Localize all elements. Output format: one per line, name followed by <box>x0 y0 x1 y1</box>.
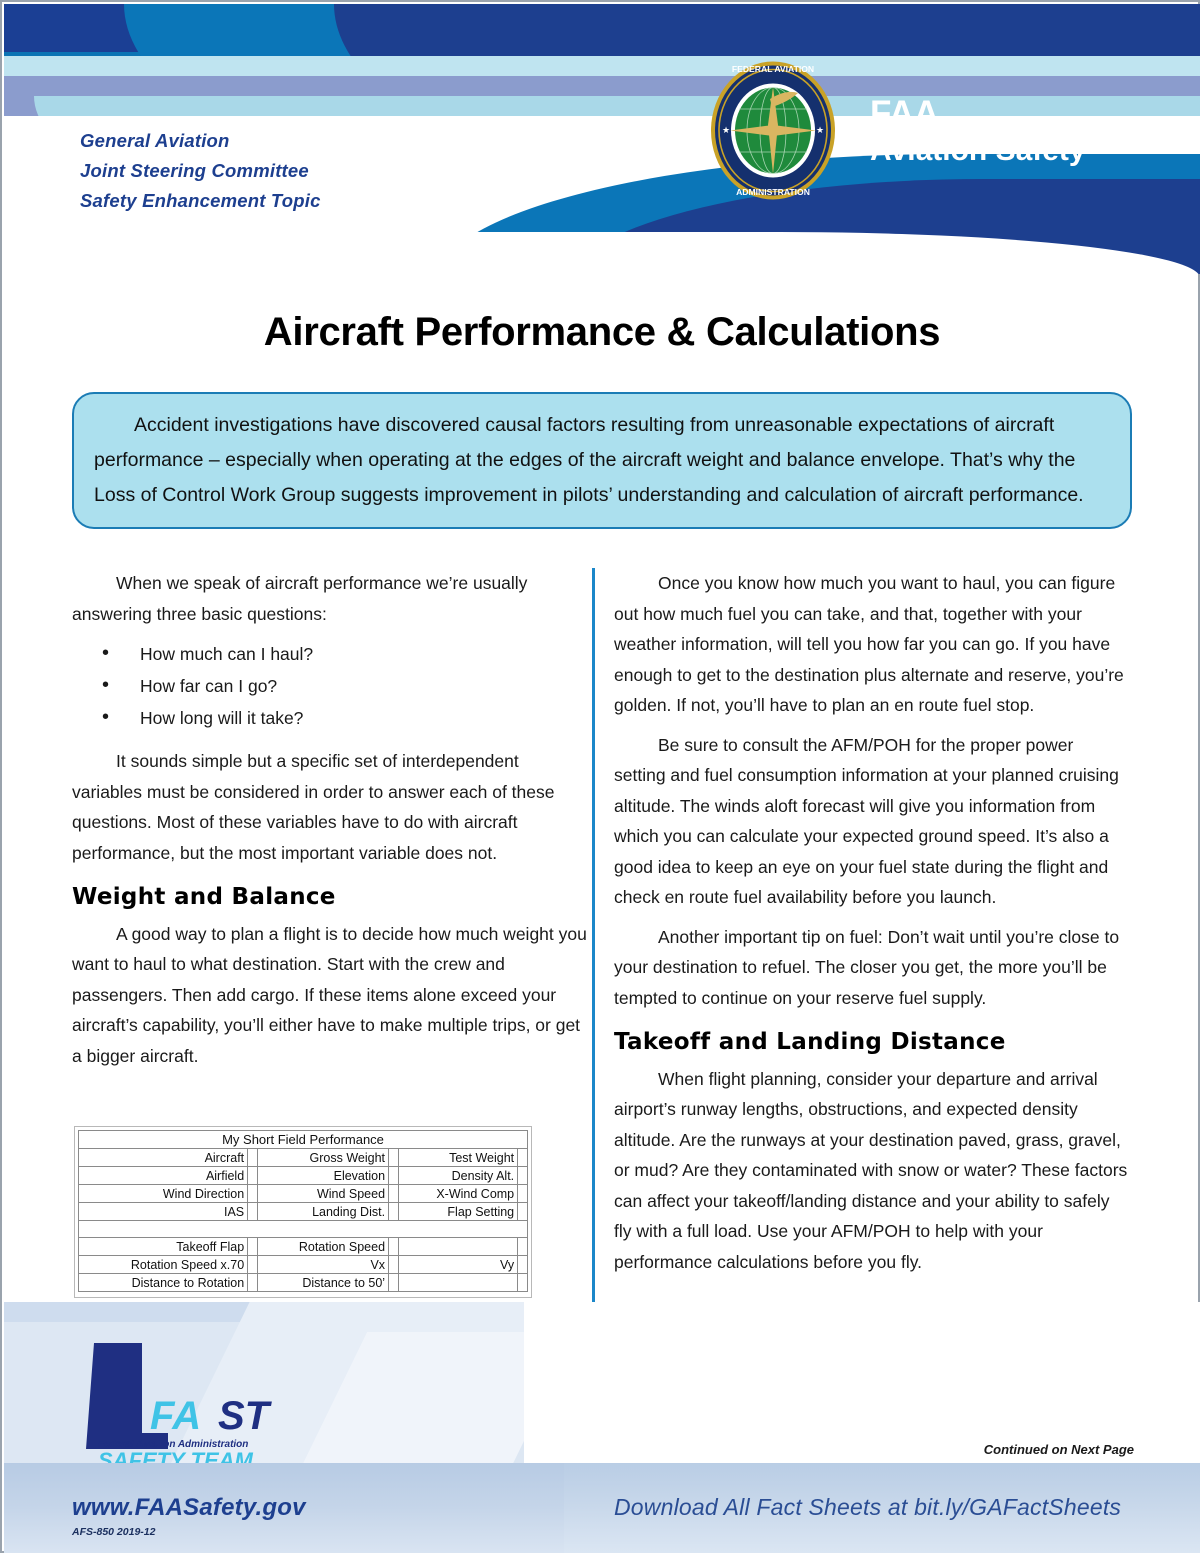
table-row: Airfield Elevation Density Alt. <box>79 1167 528 1185</box>
cell-input[interactable] <box>518 1149 528 1167</box>
cell-label: Vx <box>258 1256 389 1274</box>
right-paragraph-1: Once you know how much you want to haul,… <box>614 568 1129 721</box>
cell-input[interactable] <box>389 1149 399 1167</box>
cell-label: Test Weight <box>398 1149 517 1167</box>
svg-text:ADMINISTRATION: ADMINISTRATION <box>736 187 810 197</box>
cell-input[interactable] <box>248 1274 258 1292</box>
cell-label: Wind Direction <box>79 1185 248 1203</box>
cell-input[interactable] <box>518 1185 528 1203</box>
cell-label: Aircraft <box>79 1149 248 1167</box>
right-paragraph-2: Be sure to consult the AFM/POH for the p… <box>614 730 1129 913</box>
cell-label: Takeoff Flap <box>79 1238 248 1256</box>
cell-label: Landing Dist. <box>258 1203 389 1221</box>
cell-spacer <box>79 1221 528 1238</box>
cell-label: Vy <box>398 1256 517 1274</box>
page-header: General Aviation Joint Steering Committe… <box>4 4 1200 274</box>
cell-input[interactable] <box>518 1274 528 1292</box>
table-row: IAS Landing Dist. Flap Setting <box>79 1203 528 1221</box>
cell-label: Rotation Speed x.70 <box>79 1256 248 1274</box>
left-bullet-list: How much can I haul? How far can I go? H… <box>72 638 587 734</box>
cell-label: Flap Setting <box>398 1203 517 1221</box>
header-eyebrow-line-3: Safety Enhancement Topic <box>80 186 321 216</box>
cell-input[interactable] <box>248 1167 258 1185</box>
cell-input[interactable] <box>248 1149 258 1167</box>
continued-notice: Continued on Next Page <box>762 1442 1134 1457</box>
cell-input[interactable] <box>518 1238 528 1256</box>
cell-label: Distance to Rotation <box>79 1274 248 1292</box>
faast-logo-icon: FA ST Federal Aviation Administration SA… <box>80 1337 310 1472</box>
faa-wordmark: FAA Aviation Safety <box>870 96 1086 170</box>
table-row: Aircraft Gross Weight Test Weight <box>79 1149 528 1167</box>
cell-label: Density Alt. <box>398 1167 517 1185</box>
cell-label: X-Wind Comp <box>398 1185 517 1203</box>
callout-text: Accident investigations have discovered … <box>94 408 1108 513</box>
faasafety-link[interactable]: www.FAASafety.gov <box>72 1494 306 1522</box>
svg-text:FEDERAL AVIATION: FEDERAL AVIATION <box>732 64 814 74</box>
right-column: Once you know how much you want to haul,… <box>614 568 1129 1286</box>
header-eyebrow-line-1: General Aviation <box>80 126 321 156</box>
cell-input[interactable] <box>389 1185 399 1203</box>
cell-input[interactable] <box>389 1256 399 1274</box>
document-code: AFS-850 2019-12 <box>72 1526 155 1538</box>
cell-label: Gross Weight <box>258 1149 389 1167</box>
cell-label: Elevation <box>258 1167 389 1185</box>
section-heading-takeoff-and-landing-distance: Takeoff and Landing Distance <box>614 1027 1129 1058</box>
table-spacer-row <box>79 1221 528 1238</box>
cell-input[interactable] <box>389 1238 399 1256</box>
cell-input[interactable] <box>248 1185 258 1203</box>
cell-label: Wind Speed <box>258 1185 389 1203</box>
cell-input[interactable] <box>518 1203 528 1221</box>
cell-label <box>398 1274 517 1292</box>
table-row: Rotation Speed x.70 Vx Vy <box>79 1256 528 1274</box>
cell-input[interactable] <box>389 1203 399 1221</box>
cell-label: Airfield <box>79 1167 248 1185</box>
cell-label: IAS <box>79 1203 248 1221</box>
table-row: Distance to Rotation Distance to 50’ <box>79 1274 528 1292</box>
page-title: Aircraft Performance & Calculations <box>2 310 1200 355</box>
left-paragraph-1: When we speak of aircraft performance we… <box>72 568 587 629</box>
download-fact-sheets-link[interactable]: Download All Fact Sheets at bit.ly/GAFac… <box>614 1494 1174 1521</box>
svg-text:FA: FA <box>150 1394 201 1438</box>
list-item: How much can I haul? <box>72 638 587 670</box>
right-paragraph-3: Another important tip on fuel: Don’t wai… <box>614 922 1129 1014</box>
cell-input[interactable] <box>248 1203 258 1221</box>
callout-box: Accident investigations have discovered … <box>72 392 1132 529</box>
faa-wordmark-line-1: FAA <box>870 96 1086 132</box>
faa-wordmark-line-2: Aviation Safety <box>870 132 1086 170</box>
svg-text:★: ★ <box>722 125 730 135</box>
cell-input[interactable] <box>389 1167 399 1185</box>
cell-input[interactable] <box>248 1256 258 1274</box>
left-column: When we speak of aircraft performance we… <box>72 568 587 1080</box>
cell-input[interactable] <box>518 1256 528 1274</box>
cell-input[interactable] <box>518 1167 528 1185</box>
left-paragraph-2: It sounds simple but a specific set of i… <box>72 746 587 868</box>
table-row: Wind Direction Wind Speed X-Wind Comp <box>79 1185 528 1203</box>
cell-label: Distance to 50’ <box>258 1274 389 1292</box>
header-eyebrow-line-2: Joint Steering Committee <box>80 156 321 186</box>
table-title: My Short Field Performance <box>79 1131 528 1149</box>
svg-text:★: ★ <box>816 125 824 135</box>
faa-seal-icon: FEDERAL AVIATION ADMINISTRATION ★ ★ <box>708 59 838 202</box>
cell-input[interactable] <box>389 1274 399 1292</box>
cell-label: Rotation Speed <box>258 1238 389 1256</box>
table-title-row: My Short Field Performance <box>79 1131 528 1149</box>
right-paragraph-4: When flight planning, consider your depa… <box>614 1064 1129 1278</box>
short-field-performance-table: My Short Field Performance Aircraft Gros… <box>78 1130 528 1292</box>
list-item: How long will it take? <box>72 702 587 734</box>
header-eyebrow: General Aviation Joint Steering Committe… <box>80 126 321 216</box>
list-item: How far can I go? <box>72 670 587 702</box>
table-row: Takeoff Flap Rotation Speed <box>79 1238 528 1256</box>
document-page: General Aviation Joint Steering Committe… <box>0 0 1200 1553</box>
left-paragraph-3: A good way to plan a flight is to decide… <box>72 919 587 1072</box>
svg-text:ST: ST <box>218 1394 273 1438</box>
cell-input[interactable] <box>248 1238 258 1256</box>
section-heading-weight-and-balance: Weight and Balance <box>72 882 587 913</box>
cell-label <box>398 1238 517 1256</box>
